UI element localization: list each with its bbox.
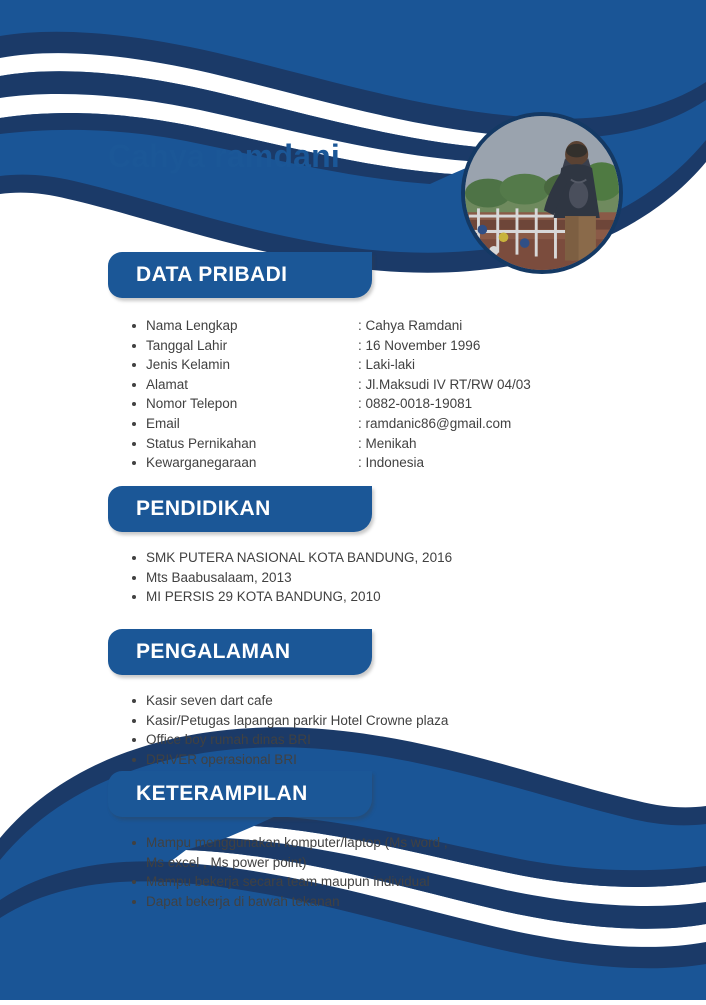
section-title: PENDIDIKAN (136, 497, 271, 521)
table-row: Nama Lengkap (132, 316, 354, 336)
table-cell-value: : Menikah (358, 434, 531, 454)
list-item: DRIVER operasional BRI (132, 750, 706, 770)
skills-list-wrap: Mampu menggunakan komputer/laptop (Ms wo… (132, 833, 462, 911)
avatar (461, 112, 623, 274)
table-row: Kewarganegaraan (132, 453, 354, 473)
section-data-pribadi: DATA PRIBADI Nama Lengkap Tanggal Lahir … (0, 252, 706, 473)
table-row: Alamat (132, 375, 354, 395)
education-list-wrap: SMK PUTERA NASIONAL KOTA BANDUNG, 2016 M… (132, 548, 706, 607)
table-row: Tanggal Lahir (132, 336, 354, 356)
cv-page: Cahya ramdani (0, 0, 706, 1000)
section-banner: KETERAMPILAN (108, 771, 372, 817)
table-cell-value: : ramdanic86@gmail.com (358, 414, 531, 434)
personal-data-values: : Cahya Ramdani : 16 November 1996 : Lak… (358, 316, 531, 473)
personal-data-table: Nama Lengkap Tanggal Lahir Jenis Kelamin… (132, 316, 592, 473)
list-item: Dapat bekerja di bawah tekanan (132, 892, 462, 912)
table-cell-value: : Cahya Ramdani (358, 316, 531, 336)
cv-header: Cahya ramdani (0, 104, 706, 274)
education-list: SMK PUTERA NASIONAL KOTA BANDUNG, 2016 M… (132, 548, 706, 607)
personal-data-labels: Nama Lengkap Tanggal Lahir Jenis Kelamin… (132, 316, 354, 473)
profile-photo-icon (465, 116, 619, 270)
table-cell-value: : Indonesia (358, 453, 531, 473)
section-pendidikan: PENDIDIKAN SMK PUTERA NASIONAL KOTA BAND… (0, 486, 706, 607)
section-banner: DATA PRIBADI (108, 252, 372, 298)
list-item: Mampu menggunakan komputer/laptop (Ms wo… (132, 833, 462, 872)
section-banner: PENGALAMAN (108, 629, 372, 675)
list-item: Office boy rumah dinas BRI (132, 730, 706, 750)
section-keterampilan: KETERAMPILAN Mampu menggunakan komputer/… (0, 771, 706, 911)
table-row: Jenis Kelamin (132, 355, 354, 375)
table-row: Nomor Telepon (132, 394, 354, 414)
list-item: Kasir seven dart cafe (132, 691, 706, 711)
section-title: DATA PRIBADI (136, 263, 287, 287)
table-cell-value: : Laki-laki (358, 355, 531, 375)
section-title: PENGALAMAN (136, 640, 291, 664)
list-item: Mampu bekerja secara team maupun individ… (132, 872, 462, 892)
list-item: MI PERSIS 29 KOTA BANDUNG, 2010 (132, 587, 706, 607)
table-cell-value: : 16 November 1996 (358, 336, 531, 356)
section-banner: PENDIDIKAN (108, 486, 372, 532)
list-item: SMK PUTERA NASIONAL KOTA BANDUNG, 2016 (132, 548, 706, 568)
section-pengalaman: PENGALAMAN Kasir seven dart cafe Kasir/P… (0, 629, 706, 769)
table-row: Status Pernikahan (132, 434, 354, 454)
page-title: Cahya ramdani (108, 138, 340, 175)
experience-list: Kasir seven dart cafe Kasir/Petugas lapa… (132, 691, 706, 769)
skills-list: Mampu menggunakan komputer/laptop (Ms wo… (132, 833, 462, 911)
section-title: KETERAMPILAN (136, 782, 308, 806)
table-cell-value: : Jl.Maksudi IV RT/RW 04/03 (358, 375, 531, 395)
list-item: Kasir/Petugas lapangan parkir Hotel Crow… (132, 711, 706, 731)
list-item: Mts Baabusalaam, 2013 (132, 568, 706, 588)
table-cell-value: : 0882-0018-19081 (358, 394, 531, 414)
experience-list-wrap: Kasir seven dart cafe Kasir/Petugas lapa… (132, 691, 706, 769)
table-row: Email (132, 414, 354, 434)
